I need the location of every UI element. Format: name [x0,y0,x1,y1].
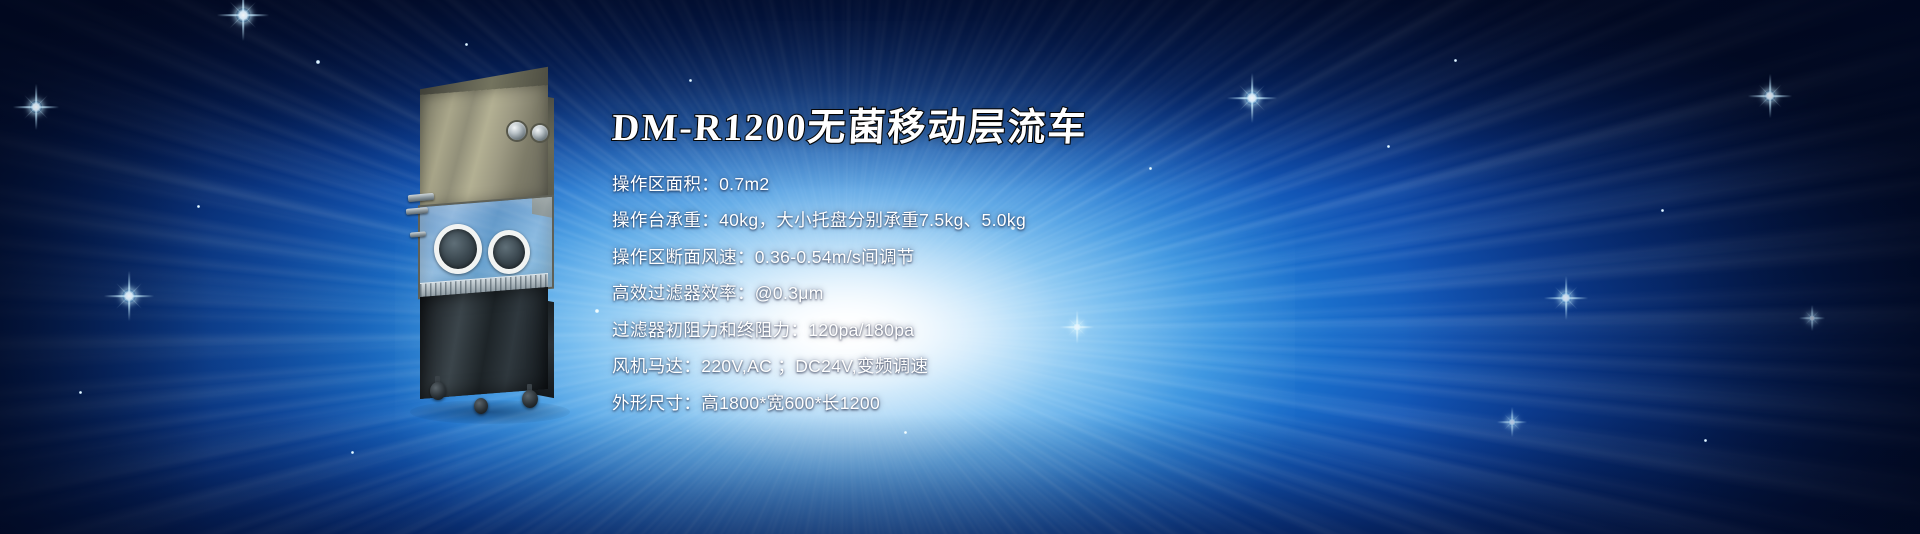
spec-item: 外形尺寸：高1800*宽600*长1200 [612,395,1312,413]
spec-item: 操作台承重：40kg，大小托盘分别承重7.5kg、5.0kg [612,212,1312,230]
product-banner: DM-R1200无菌移动层流车 操作区面积：0.7m2 操作台承重：40kg，大… [0,0,1920,534]
spec-item: 操作区断面风速：0.36-0.54m/s间调节 [612,249,1312,267]
copy-block: DM-R1200无菌移动层流车 操作区面积：0.7m2 操作台承重：40kg，大… [612,108,1312,431]
spec-item: 过滤器初阻力和终阻力：120pa/180pa [612,322,1312,340]
spec-item: 高效过滤器效率：@0.3μm [612,285,1312,303]
product-title: DM-R1200无菌移动层流车 [611,108,1313,150]
spec-item: 操作区面积：0.7m2 [612,176,1312,194]
spec-item: 风机马达：220V,AC ；DC24V,变频调速 [612,358,1312,376]
specification-list: 操作区面积：0.7m2 操作台承重：40kg，大小托盘分别承重7.5kg、5.0… [612,176,1312,413]
